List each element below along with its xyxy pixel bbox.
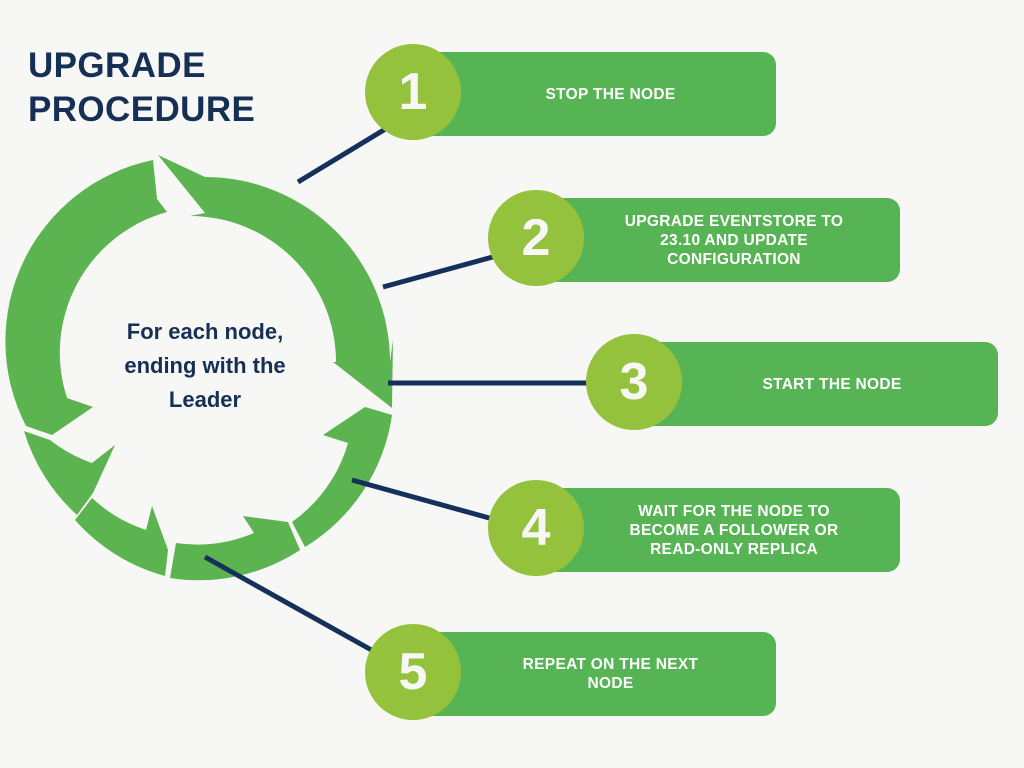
step-badge-2[interactable]: 2 bbox=[488, 190, 584, 286]
step-number-1: 1 bbox=[399, 66, 428, 118]
step-badge-1[interactable]: 1 bbox=[365, 44, 461, 140]
step-bar-1[interactable]: STOP THE NODE bbox=[413, 52, 776, 136]
ring-segment-4 bbox=[170, 516, 300, 580]
step-row-1[interactable]: STOP THE NODE 1 bbox=[365, 52, 776, 136]
step-number-5: 5 bbox=[399, 646, 428, 698]
step-bar-4[interactable]: WAIT FOR THE NODE TO BECOME A FOLLOWER O… bbox=[536, 488, 900, 572]
step-row-3[interactable]: START THE NODE 3 bbox=[586, 342, 998, 426]
ring-segment-2 bbox=[24, 431, 115, 515]
step-number-2: 2 bbox=[522, 212, 551, 264]
step-badge-5[interactable]: 5 bbox=[365, 624, 461, 720]
step-badge-4[interactable]: 4 bbox=[488, 480, 584, 576]
step-label-4: WAIT FOR THE NODE TO BECOME A FOLLOWER O… bbox=[584, 502, 853, 559]
cycle-center-label: For each node, ending with the Leader bbox=[85, 315, 325, 417]
page-title: UPGRADE PROCEDURE bbox=[28, 44, 358, 132]
step-row-2[interactable]: UPGRADE EVENTSTORE TO 23.10 AND UPDATE C… bbox=[488, 198, 900, 282]
ring-segment-5 bbox=[292, 407, 392, 547]
step-label-2: UPGRADE EVENTSTORE TO 23.10 AND UPDATE C… bbox=[579, 212, 857, 269]
infographic-canvas: UPGRADE PROCEDURE For each node, ending … bbox=[0, 0, 1024, 768]
step-bar-2[interactable]: UPGRADE EVENTSTORE TO 23.10 AND UPDATE C… bbox=[536, 198, 900, 282]
ring-segment-3 bbox=[75, 498, 168, 576]
step-badge-3[interactable]: 3 bbox=[586, 334, 682, 430]
step-number-4: 4 bbox=[522, 502, 551, 554]
step-label-3: START THE NODE bbox=[716, 375, 915, 394]
step-label-1: STOP THE NODE bbox=[500, 85, 690, 104]
step-bar-5[interactable]: REPEAT ON THE NEXT NODE bbox=[413, 632, 776, 716]
cycle-diagram: For each node, ending with the Leader bbox=[0, 150, 420, 600]
step-row-5[interactable]: REPEAT ON THE NEXT NODE 5 bbox=[365, 632, 776, 716]
step-label-5: REPEAT ON THE NEXT NODE bbox=[477, 655, 713, 693]
step-number-3: 3 bbox=[620, 356, 649, 408]
step-row-4[interactable]: WAIT FOR THE NODE TO BECOME A FOLLOWER O… bbox=[488, 488, 900, 572]
step-bar-3[interactable]: START THE NODE bbox=[634, 342, 998, 426]
